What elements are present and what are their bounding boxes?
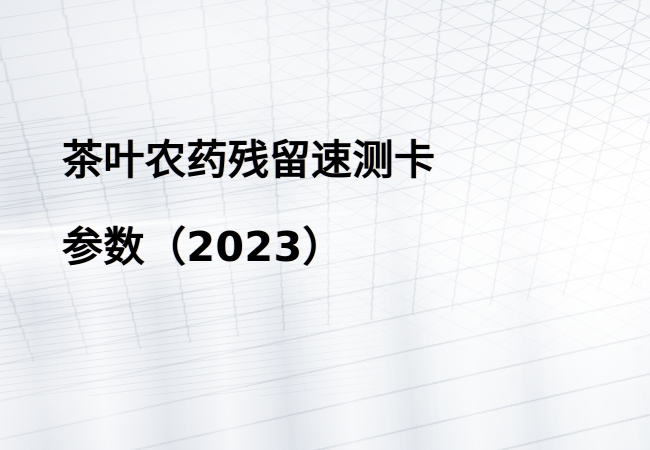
title-line-primary: 茶叶农药残留速测卡 xyxy=(62,140,582,181)
title-banner: 茶叶农药残留速测卡 参数（2023） xyxy=(0,0,650,450)
page-title: 茶叶农药残留速测卡 参数（2023） xyxy=(62,140,582,268)
title-line-secondary: 参数（2023） xyxy=(62,227,582,268)
